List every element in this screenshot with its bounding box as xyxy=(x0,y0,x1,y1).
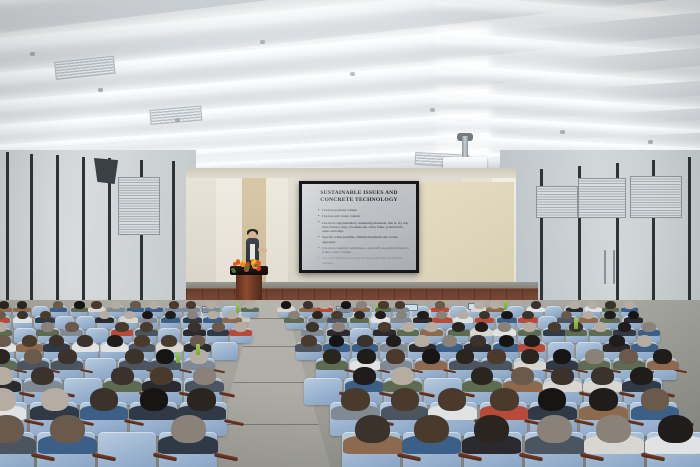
attendee-head xyxy=(111,301,121,308)
attendee-head xyxy=(396,311,407,320)
sprinkler-head-icon xyxy=(430,108,435,112)
attendee-head xyxy=(319,301,329,308)
attendee-head xyxy=(22,335,38,347)
attendee-head xyxy=(24,349,43,364)
attendee-head xyxy=(425,322,438,332)
attendee-head xyxy=(357,335,373,347)
attendee-head xyxy=(624,301,634,308)
attendee-head xyxy=(569,301,579,308)
projection-screen-surface: SUSTAINABLE ISSUES AND CONCRETE TECHNOLO… xyxy=(302,184,416,270)
attendee-head xyxy=(355,415,390,443)
attendee-head xyxy=(115,322,128,332)
attendee-head xyxy=(609,335,625,347)
attendee-head xyxy=(341,301,351,308)
door-handle-left[interactable] xyxy=(604,250,606,284)
attendee-head xyxy=(523,322,536,332)
attendee-head xyxy=(474,415,509,443)
attendee-head xyxy=(588,301,598,308)
presenter-shirt xyxy=(250,244,255,260)
slide-bullet: Use more limestone powder in the product… xyxy=(318,256,410,264)
attendee-head xyxy=(53,301,63,308)
auditorium-seat[interactable] xyxy=(98,432,156,467)
attendee-head xyxy=(553,349,572,364)
attendee-head xyxy=(538,388,566,410)
attendee-head xyxy=(524,335,540,347)
wall-speaker-icon xyxy=(94,158,118,184)
attendee-head xyxy=(134,335,150,347)
attendee-head xyxy=(386,349,405,364)
attendee-head xyxy=(479,311,490,320)
attendee-head xyxy=(142,311,153,320)
attendee-head xyxy=(41,388,69,410)
attendee-head xyxy=(149,301,159,308)
attendee-head xyxy=(642,322,655,332)
attendee-head xyxy=(0,335,11,347)
attendee-head xyxy=(641,388,669,410)
stone-wall-cornice xyxy=(186,168,516,178)
attendee-head xyxy=(90,388,118,410)
attendee-head xyxy=(521,349,540,364)
projection-screen: SUSTAINABLE ISSUES AND CONCRETE TECHNOLO… xyxy=(299,181,419,273)
attendee-head xyxy=(474,301,484,308)
attendee-head xyxy=(356,301,366,308)
attendee-head xyxy=(637,335,653,347)
attendee-head xyxy=(498,322,511,332)
rolling-shutter-right-a xyxy=(578,178,626,218)
floor-seam xyxy=(210,424,330,425)
attendee-head xyxy=(165,311,176,320)
attendee-head xyxy=(187,311,198,320)
attendee-head xyxy=(226,311,237,320)
attendee-head xyxy=(414,415,449,443)
attendee-head xyxy=(329,335,345,347)
rolling-shutter-right-b xyxy=(630,176,682,218)
attendee-head xyxy=(475,322,488,332)
attendee-head xyxy=(658,415,693,443)
sprinkler-head-icon xyxy=(175,118,180,122)
sprinkler-head-icon xyxy=(350,72,355,76)
attendee-head xyxy=(50,415,85,443)
attendee-head xyxy=(511,367,534,385)
attendee-head xyxy=(161,335,177,347)
slide-bullet: Specify, when possible, 150mm maximum si… xyxy=(318,235,410,243)
attendee-head xyxy=(414,335,430,347)
attendee-head xyxy=(391,388,419,410)
attendee-head xyxy=(130,301,140,308)
slide-bullet: Use more chemical admixtures, especially… xyxy=(318,246,410,254)
attendee-head xyxy=(490,388,518,410)
attendee-head xyxy=(91,301,101,308)
sprinkler-head-icon xyxy=(648,140,653,144)
attendee-head xyxy=(331,311,342,320)
stone-panel xyxy=(186,168,216,294)
rolling-shutter-left xyxy=(118,177,160,235)
attendee-head xyxy=(150,367,173,385)
attendee-head xyxy=(31,367,54,385)
sprinkler-head-icon xyxy=(560,130,565,134)
attendee-head xyxy=(188,322,201,332)
attendee-head xyxy=(378,301,388,308)
attendee-head xyxy=(653,349,672,364)
attendee-head xyxy=(531,301,541,308)
water-bottle-icon xyxy=(196,344,200,355)
attendee-head xyxy=(604,311,615,320)
attendee-head xyxy=(456,349,475,364)
attendee-head xyxy=(417,311,428,320)
attendee-head xyxy=(583,311,594,320)
attendee-head xyxy=(522,311,533,320)
attendee-head xyxy=(551,367,574,385)
attendee-head xyxy=(140,388,168,410)
attendee-head xyxy=(391,367,414,385)
attendee-head xyxy=(245,301,255,308)
foliage xyxy=(254,264,258,267)
attendee-head xyxy=(332,322,345,332)
attendee-head xyxy=(548,322,561,332)
attendee-head xyxy=(156,349,175,364)
attendee-head xyxy=(594,322,607,332)
attendee-head xyxy=(435,301,445,308)
sprinkler-head-icon xyxy=(30,52,35,56)
attendee-head xyxy=(630,367,653,385)
attendee-head xyxy=(353,367,376,385)
attendee-head xyxy=(193,367,216,385)
auditorium-seat[interactable] xyxy=(304,378,342,405)
attendee-head xyxy=(107,335,123,347)
attendee-head xyxy=(125,349,144,364)
auditorium-seat[interactable] xyxy=(212,342,238,360)
attendee-head xyxy=(402,322,415,332)
attendee-head xyxy=(618,322,631,332)
water-bottle-icon xyxy=(176,352,180,363)
attendee-head xyxy=(212,322,225,332)
attendee-head xyxy=(206,301,216,308)
attendee-head xyxy=(619,349,638,364)
attendee-head xyxy=(58,349,77,364)
attendee-head xyxy=(487,349,506,364)
attendee-head xyxy=(40,311,51,320)
sprinkler-head-icon xyxy=(98,88,103,92)
attendee-head xyxy=(306,322,319,332)
attendee-head xyxy=(281,301,291,308)
attendee-head xyxy=(490,301,500,308)
attendee-head xyxy=(77,335,93,347)
flower-arrangement xyxy=(231,259,267,271)
attendee-head xyxy=(49,335,65,347)
slide-bullet: Use more supplementary cementing materia… xyxy=(318,221,410,234)
attendee-head xyxy=(74,301,84,308)
rolling-shutter-right-c xyxy=(536,186,578,218)
slide-bullet: Use less unit water content xyxy=(318,214,410,218)
attendee-head xyxy=(111,367,134,385)
attendee-head xyxy=(442,335,458,347)
lecture-hall-photo: SUSTAINABLE ISSUES AND CONCRETE TECHNOLO… xyxy=(0,0,700,467)
attendee-head xyxy=(457,311,468,320)
attendee-head xyxy=(589,388,617,410)
attendee-head xyxy=(438,388,466,410)
attendee-head xyxy=(65,322,78,332)
door-handle-right[interactable] xyxy=(613,250,615,284)
attendee-head xyxy=(0,349,10,364)
projector-mount-pole xyxy=(462,136,468,158)
attendee-head xyxy=(591,367,614,385)
flower xyxy=(233,262,237,266)
stone-panel xyxy=(266,168,288,294)
attendee-head xyxy=(357,349,376,364)
attendee-head xyxy=(470,335,486,347)
attendee-head xyxy=(471,367,494,385)
attendee-head xyxy=(288,311,299,320)
attendee-head xyxy=(301,335,317,347)
attendee-head xyxy=(169,301,179,308)
attendee-head xyxy=(187,388,215,410)
attendee-head xyxy=(17,301,27,308)
attendee-head xyxy=(585,349,604,364)
attendee-head xyxy=(0,301,9,308)
sprinkler-head-icon xyxy=(260,40,265,44)
water-bottle-icon xyxy=(574,318,578,329)
attendee-head xyxy=(303,301,313,308)
attendee-head xyxy=(186,301,196,308)
attendee-head xyxy=(395,301,405,308)
slide-bullet: Use less portland cement xyxy=(318,208,410,212)
attendee-head xyxy=(323,349,342,364)
slide-bullet-list: Use less portland cementUse less unit wa… xyxy=(318,208,410,267)
attendee-head xyxy=(341,388,369,410)
attendee-head xyxy=(596,415,631,443)
attendee-head xyxy=(422,349,441,364)
attendee-head xyxy=(378,322,391,332)
attendee-head xyxy=(628,311,639,320)
water-bottle-icon xyxy=(504,300,507,310)
attendee-head xyxy=(0,415,24,443)
attendee-head xyxy=(386,335,402,347)
attendee-head xyxy=(537,415,572,443)
attendee-head xyxy=(140,322,153,332)
attendee-head xyxy=(499,335,515,347)
attendee-head xyxy=(171,415,206,443)
attendee-head xyxy=(207,311,218,320)
attendee-head xyxy=(41,322,54,332)
attendee-head xyxy=(605,301,615,308)
attendee-head xyxy=(452,322,465,332)
slide-title: SUSTAINABLE ISSUES AND CONCRETE TECHNOLO… xyxy=(308,190,410,204)
attendee-head xyxy=(124,311,135,320)
beige-wall-panel xyxy=(418,182,514,286)
attendee-head xyxy=(501,311,512,320)
attendee-head xyxy=(234,322,247,332)
